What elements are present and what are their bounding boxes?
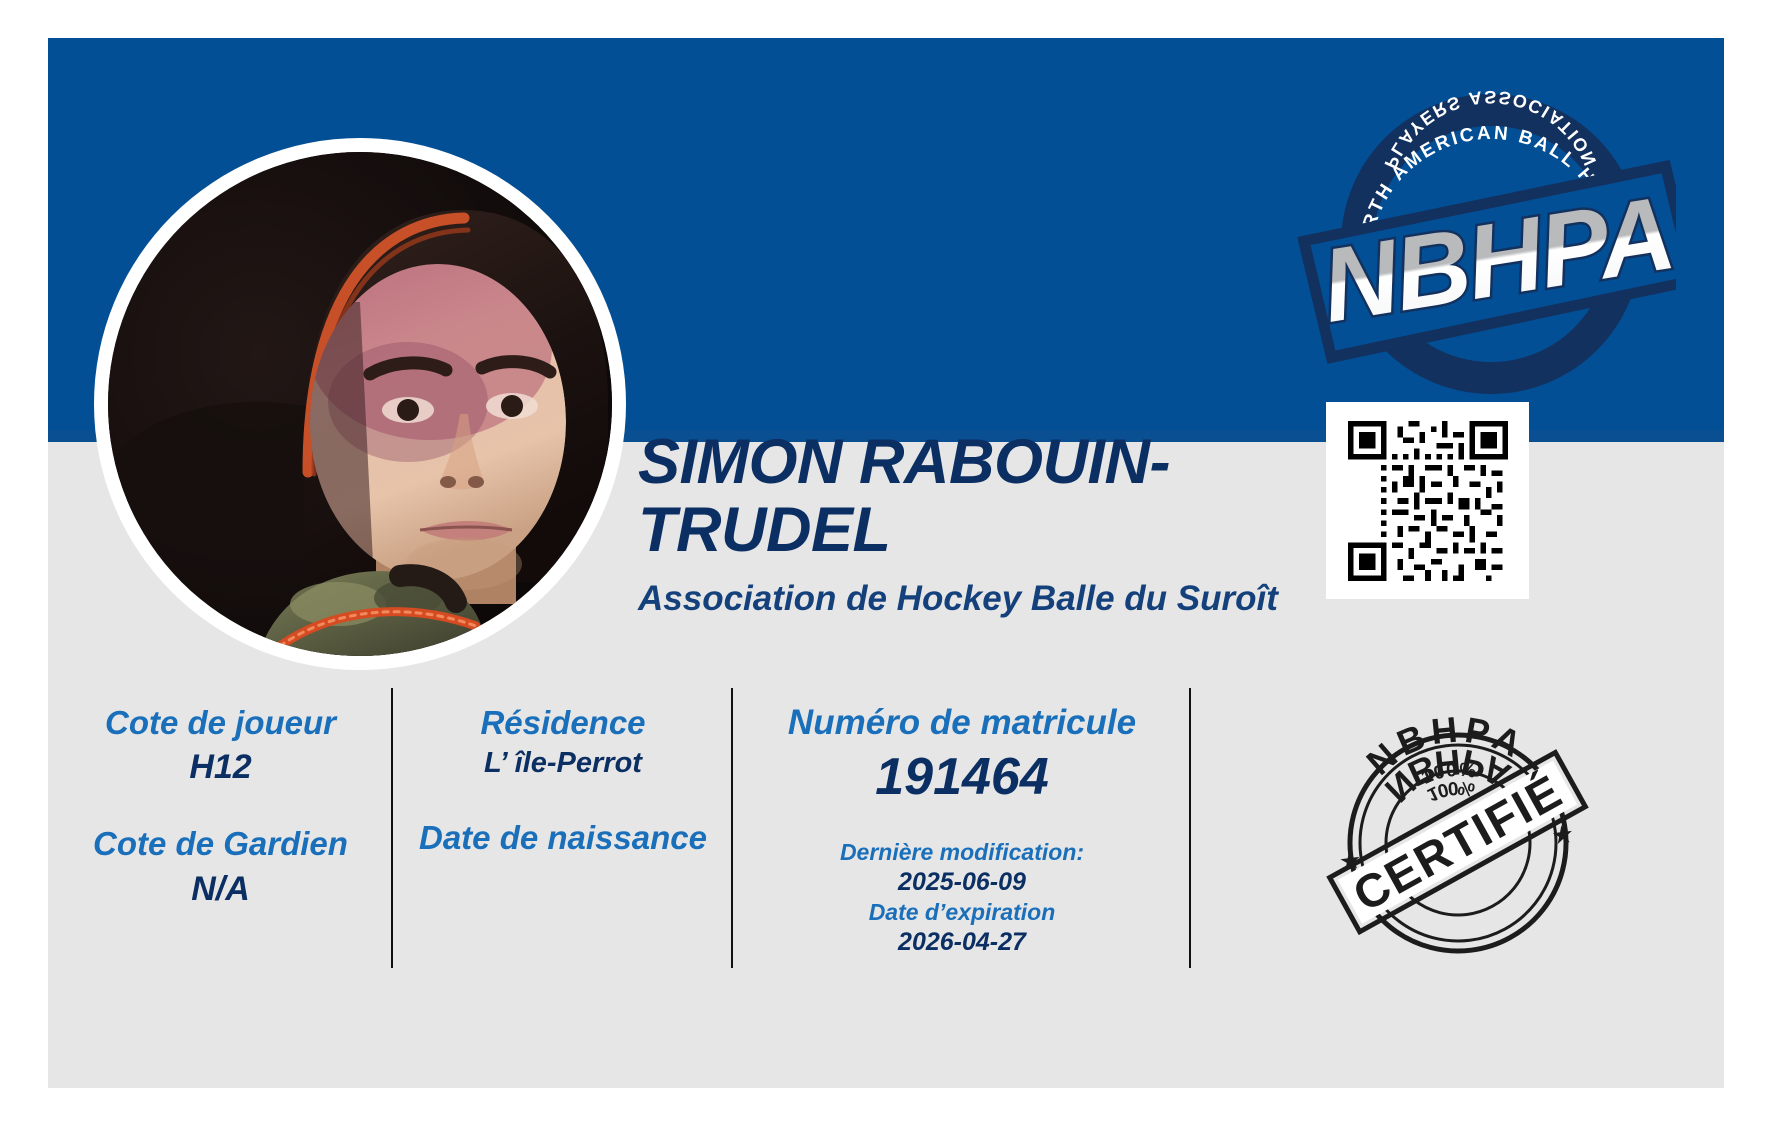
residence-group: Résidence L’ île-Perrot [393,702,733,783]
matricule-label: Numéro de matricule [733,702,1191,744]
residence-column: Résidence L’ île-Perrot Date de naissanc… [393,678,733,978]
last-modified-value: 2025-06-09 [733,867,1191,898]
id-card-page: NORTH AMERICAN BALL HOCKEY PLAYERS ASSOC… [0,0,1772,1125]
matricule-value: 191464 [733,748,1191,808]
birthdate-label: Date de naissance [393,817,733,858]
residence-label: Résidence [393,702,733,743]
qr-code-panel[interactable] [1326,402,1529,599]
player-rating-value: H12 [48,745,393,789]
goalie-rating-value: N/A [48,867,393,911]
member-photo-frame [94,138,626,670]
ratings-column: Cote de joueur H12 Cote de Gardien N/A [48,678,393,978]
player-rating-group: Cote de joueur H12 [48,702,393,789]
person-name: SIMON RABOUIN-TRUDEL [638,428,1338,564]
fields-row: Cote de joueur H12 Cote de Gardien N/A R… [48,678,1724,978]
matricule-group: Numéro de matricule 191464 [733,702,1191,808]
birthdate-group: Date de naissance [393,817,733,858]
meta-dates-group: Dernière modification: 2025-06-09 Date d… [733,838,1191,958]
player-rating-label: Cote de joueur [48,702,393,743]
stamp-column: NBHPA NBHPA 100% 100% [1191,678,1724,978]
expiry-value: 2026-04-27 [733,927,1191,958]
goalie-rating-group: Cote de Gardien N/A [48,823,393,910]
expiry-label: Date d’expiration [733,898,1191,927]
last-modified-label: Dernière modification: [733,838,1191,867]
membership-card: NORTH AMERICAN BALL HOCKEY PLAYERS ASSOC… [48,38,1724,1088]
residence-value: L’ île-Perrot [393,745,733,783]
member-photo [108,152,612,656]
matricule-column: Numéro de matricule 191464 Dernière modi… [733,678,1191,978]
nbhpa-logo: NORTH AMERICAN BALL HOCKEY PLAYERS ASSOC… [1256,64,1676,394]
organization-name: Association de Hockey Balle du Suroît [638,580,1338,619]
certified-stamp: NBHPA NBHPA 100% 100% [1313,715,1603,965]
qr-code[interactable] [1348,421,1508,581]
goalie-rating-label: Cote de Gardien [48,823,393,864]
identity-block: SIMON RABOUIN-TRUDEL Association de Hock… [638,428,1338,619]
